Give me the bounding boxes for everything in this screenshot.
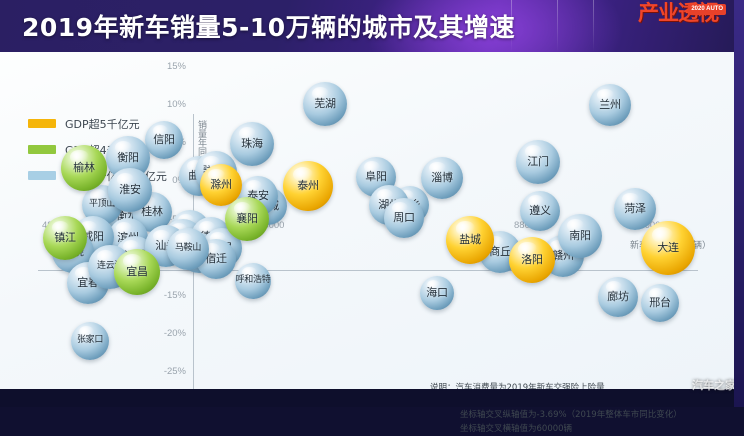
bubble-12[interactable]: 淄博	[421, 157, 463, 199]
bubble-35[interactable]: 洛阳	[509, 237, 555, 283]
bubble-label: 菏泽	[624, 203, 645, 214]
site-watermark: 汽车之家	[692, 377, 736, 393]
bubble-label: 盐城	[459, 234, 480, 245]
bubble-label: 桂林	[141, 206, 162, 217]
y-tick-7: -20%	[152, 328, 186, 339]
bubble-1[interactable]: 兰州	[589, 84, 631, 126]
bubble-4[interactable]: 江门	[516, 140, 560, 184]
legend-swatch-orange	[28, 119, 56, 128]
bubble-label: 阜阳	[365, 171, 386, 182]
bubble-label: 泰州	[297, 180, 318, 191]
page-header: 2019年新车销量5-10万辆的城市及其增速 2020 AUTO 产业透视	[0, 0, 744, 52]
bubble-label: 淮安	[119, 184, 140, 195]
bubble-24[interactable]: 襄阳	[225, 197, 269, 241]
bubble-label: 张家口	[77, 336, 103, 345]
bubble-label: 邢台	[649, 297, 670, 308]
note-line-2: 坐标轴交叉纵轴值为-3.69%（2019年整体车市同比变化）	[430, 409, 682, 423]
bubble-19[interactable]: 周口	[384, 198, 424, 238]
bubble-label: 镇江	[54, 232, 75, 243]
bubble-0[interactable]: 芜湖	[303, 82, 347, 126]
bubble-label: 江门	[527, 156, 548, 167]
y-tick-8: -25%	[152, 366, 186, 377]
bubble-label: 周口	[393, 212, 414, 223]
legend-swatch-blue	[28, 171, 56, 180]
bubble-label: 宿迁	[205, 253, 226, 264]
bubble-label: 芜湖	[314, 98, 335, 109]
bubble-label: 洛阳	[521, 254, 542, 265]
note-line-3: 坐标轴交叉横轴值为60000辆	[430, 423, 682, 436]
bubble-51[interactable]: 张家口	[71, 322, 109, 360]
bubble-label: 滁州	[210, 179, 231, 190]
header-streak-2	[557, 0, 558, 52]
bubble-label: 榆林	[73, 162, 94, 173]
bubble-14[interactable]: 淮安	[108, 168, 152, 212]
y-tick-0: 15%	[152, 61, 186, 72]
bubble-label: 呼和浩特	[236, 276, 271, 285]
bubble-45[interactable]: 宜昌	[114, 249, 160, 295]
legend-swatch-green	[28, 145, 56, 154]
bubble-label: 兰州	[599, 99, 620, 110]
bubble-label: 遵义	[529, 205, 550, 216]
bubble-label: 信阳	[153, 134, 174, 145]
bubble-label: 珠海	[241, 138, 262, 149]
page-footer	[0, 389, 744, 407]
chart-panel: 15%10%5%0%-5%-10%-15%-20%-25%48000580006…	[0, 52, 744, 389]
bubble-chart-plot: 15%10%5%0%-5%-10%-15%-20%-25%48000580006…	[0, 52, 744, 389]
bubble-label: 襄阳	[236, 213, 257, 224]
brand-logo: 2020 AUTO 产业透视	[626, 3, 730, 49]
bubble-3[interactable]: 珠海	[230, 122, 274, 166]
bubble-21[interactable]: 菏泽	[614, 188, 656, 230]
right-side-strip	[734, 0, 744, 407]
bubble-label: 马鞍山	[175, 244, 201, 253]
header-streak-1	[593, 0, 594, 52]
legend-label-orange: GDP超5千亿元	[65, 116, 140, 132]
bubble-label: 南阳	[569, 230, 590, 241]
bubble-34[interactable]: 南阳	[558, 214, 602, 258]
page-title: 2019年新车销量5-10万辆的城市及其增速	[22, 8, 515, 44]
bubble-50[interactable]: 邢台	[641, 284, 679, 322]
bubble-48[interactable]: 海口	[420, 276, 454, 310]
bubble-2[interactable]: 信阳	[145, 121, 183, 159]
bubble-25[interactable]: 镇江	[43, 216, 87, 260]
bubble-31[interactable]: 盐城	[446, 216, 494, 264]
bubble-label: 淄博	[431, 172, 452, 183]
bubble-label: 衡阳	[117, 152, 138, 163]
bubble-47[interactable]: 呼和浩特	[235, 263, 271, 299]
bubble-label: 宜昌	[126, 266, 147, 277]
bubble-label: 廊坊	[607, 291, 628, 302]
y-tick-6: -15%	[152, 290, 186, 301]
bubble-6[interactable]: 榆林	[61, 145, 107, 191]
bubble-label: 海口	[426, 287, 447, 298]
bubble-label: 大连	[657, 242, 678, 253]
bubble-20[interactable]: 遵义	[520, 191, 560, 231]
screenshot-root: 2019年新车销量5-10万辆的城市及其增速 2020 AUTO 产业透视 15…	[0, 0, 744, 407]
brand-logo-badge: 2020 AUTO	[688, 4, 726, 15]
bubble-49[interactable]: 廊坊	[598, 277, 638, 317]
bubble-39[interactable]: 马鞍山	[167, 228, 209, 270]
y-tick-1: 10%	[152, 99, 186, 110]
bubble-10[interactable]: 泰州	[283, 161, 333, 211]
legend-item-orange: GDP超5千亿元	[28, 114, 167, 133]
bubble-32[interactable]: 大连	[641, 221, 695, 275]
